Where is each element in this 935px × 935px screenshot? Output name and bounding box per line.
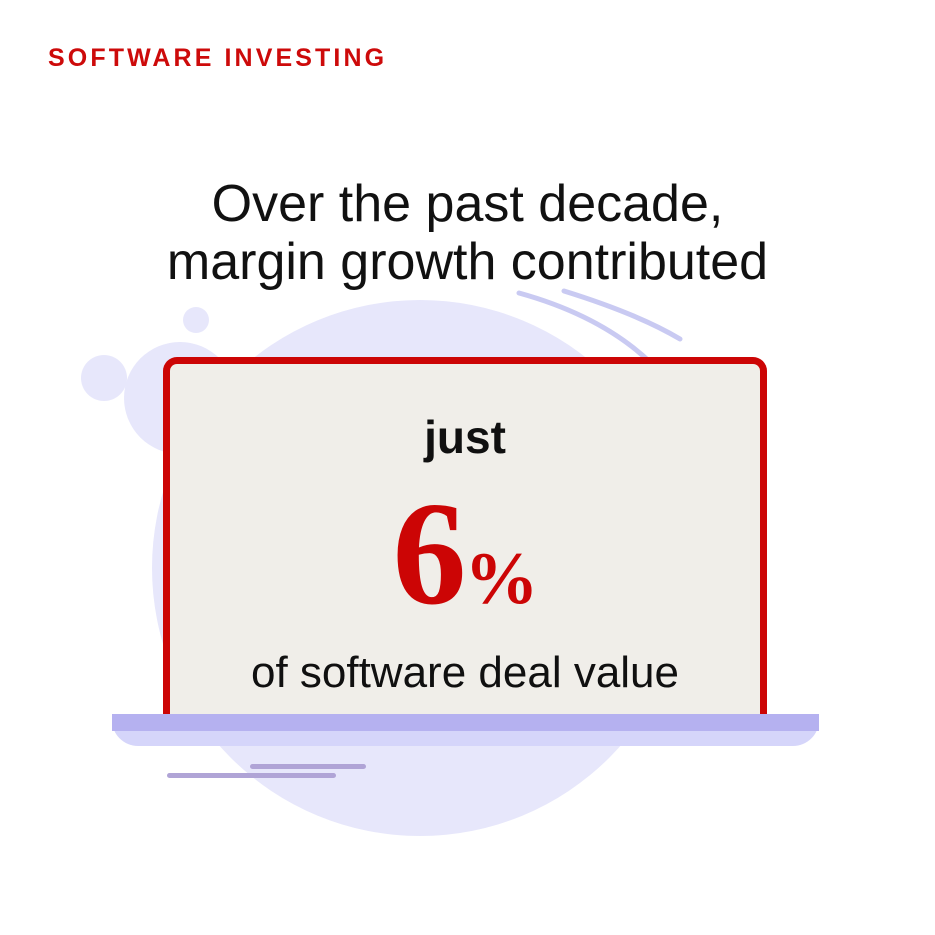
kicker-label: SOFTWARE INVESTING xyxy=(48,44,387,73)
upper-swoosh-arc xyxy=(519,293,651,363)
stat-caption: of software deal value xyxy=(170,648,760,698)
laptop-screen: just 6% of software deal value xyxy=(163,357,767,717)
headline-line-1: Over the past decade, xyxy=(0,175,935,233)
lower-swoosh-arc xyxy=(564,291,680,339)
upper-dash-line xyxy=(250,764,366,769)
infographic-canvas: SOFTWARE INVESTING Over the past decade,… xyxy=(0,0,935,935)
lower-dash-line xyxy=(167,773,336,778)
screen-content: just 6% of software deal value xyxy=(170,364,760,698)
laptop-base-upper xyxy=(112,714,819,731)
medium-circle xyxy=(81,355,127,401)
laptop-illustration: just 6% of software deal value xyxy=(163,357,767,717)
stat-number: 6 xyxy=(393,472,465,636)
laptop-base xyxy=(112,714,819,746)
stat-lead-in: just xyxy=(170,412,760,462)
stat-value-group: 6% xyxy=(170,480,760,628)
headline-line-2: margin growth contributed xyxy=(0,233,935,291)
stat-percent-sign: % xyxy=(465,538,538,620)
page-title: Over the past decade, margin growth cont… xyxy=(0,175,935,291)
small-circle xyxy=(183,307,209,333)
